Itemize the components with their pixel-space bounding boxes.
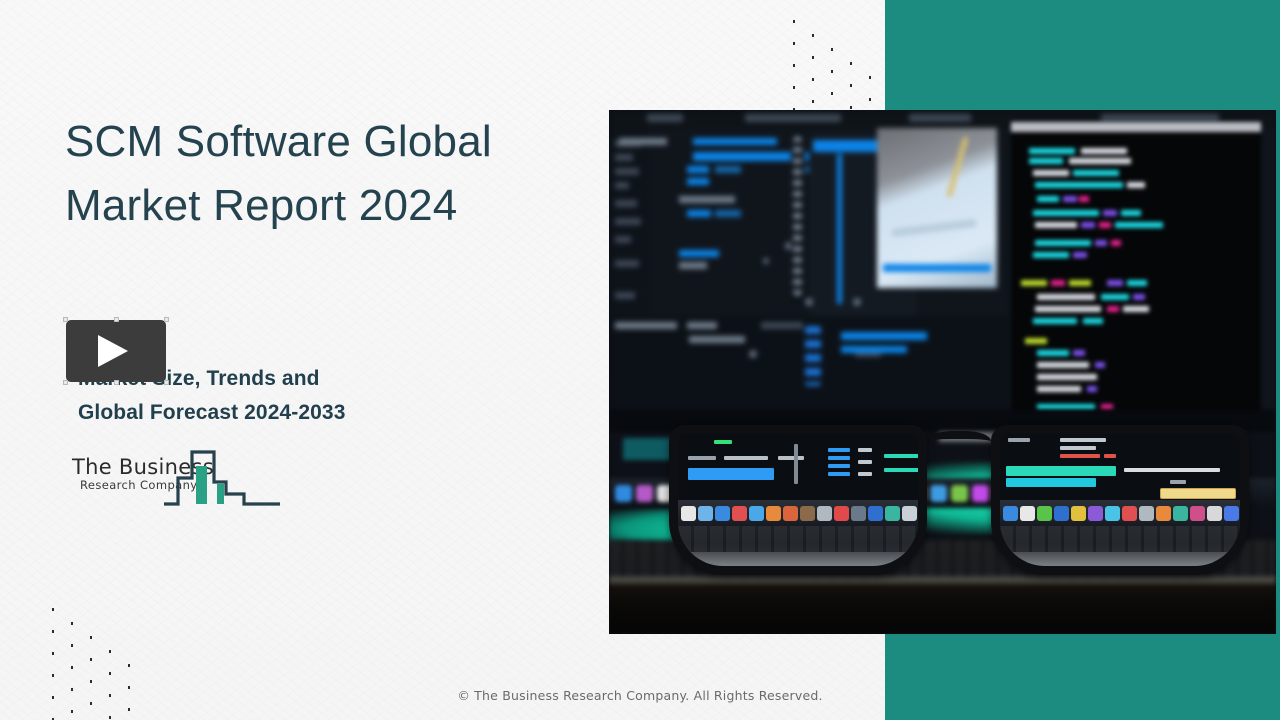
dot-column bbox=[109, 650, 111, 720]
presentation-slide: SCM Software Global Market Report 2024 M… bbox=[0, 0, 1280, 720]
decoration-dot bbox=[793, 64, 795, 67]
decoration-dot bbox=[109, 672, 111, 675]
selection-handle-top-right[interactable] bbox=[164, 317, 169, 322]
decoration-dot bbox=[869, 98, 871, 101]
selection-handle-bottom-middle[interactable] bbox=[114, 380, 119, 385]
bar-chart-logo-mark bbox=[162, 448, 282, 515]
company-logo: The Business Research Company bbox=[72, 448, 282, 510]
decoration-dot bbox=[812, 100, 814, 103]
decoration-dot bbox=[850, 84, 852, 87]
decoration-dot bbox=[831, 92, 833, 95]
decoration-dot bbox=[128, 664, 130, 667]
decoration-dot bbox=[90, 658, 92, 661]
decoration-dot bbox=[71, 710, 73, 713]
decoration-dot bbox=[793, 20, 795, 23]
decoration-dot bbox=[52, 630, 54, 633]
decoration-dot bbox=[90, 680, 92, 683]
decoration-dot bbox=[850, 106, 852, 109]
glasses-bridge bbox=[927, 431, 991, 457]
copyright-footer: © The Business Research Company. All Rig… bbox=[0, 688, 1280, 703]
decoration-dot bbox=[812, 78, 814, 81]
decoration-dot bbox=[850, 62, 852, 65]
decoration-dot bbox=[52, 674, 54, 677]
glasses-left-lens bbox=[669, 425, 927, 575]
selection-handle-bottom-right[interactable] bbox=[164, 380, 169, 385]
decoration-dot bbox=[109, 650, 111, 653]
dot-column bbox=[52, 608, 54, 720]
hero-photo bbox=[609, 110, 1276, 634]
decoration-dot bbox=[71, 622, 73, 625]
selection-handle-bottom-left[interactable] bbox=[63, 380, 68, 385]
decoration-dot bbox=[793, 86, 795, 89]
title-line-2: Market Report 2024 bbox=[65, 174, 585, 238]
photo-preview-thumb bbox=[877, 128, 997, 288]
subtitle-line-2: Global Forecast 2024-2033 bbox=[78, 396, 538, 430]
decoration-dot bbox=[52, 608, 54, 611]
play-triangle-icon bbox=[98, 335, 128, 367]
decoration-dot bbox=[52, 652, 54, 655]
decoration-dot bbox=[869, 76, 871, 79]
dot-column bbox=[71, 622, 73, 720]
decoration-dot bbox=[128, 708, 130, 711]
decoration-dot bbox=[812, 34, 814, 37]
decoration-dot bbox=[109, 716, 111, 719]
decoration-dot bbox=[71, 644, 73, 647]
decoration-dot bbox=[812, 56, 814, 59]
glasses-right-lens bbox=[991, 425, 1249, 575]
photo-eyeglasses bbox=[669, 425, 1249, 595]
decoration-dot bbox=[831, 70, 833, 73]
decoration-dot bbox=[90, 636, 92, 639]
selection-handle-top-left[interactable] bbox=[63, 317, 68, 322]
decoration-dot bbox=[831, 48, 833, 51]
title-line-1: SCM Software Global bbox=[65, 110, 585, 174]
video-play-button[interactable] bbox=[66, 320, 166, 382]
decoration-dot bbox=[71, 666, 73, 669]
dot-column bbox=[90, 636, 92, 720]
decoration-dot bbox=[793, 42, 795, 45]
photo-code-editor-pane bbox=[1011, 122, 1261, 434]
page-title: SCM Software Global Market Report 2024 bbox=[65, 110, 585, 238]
selection-handle-top-middle[interactable] bbox=[114, 317, 119, 322]
